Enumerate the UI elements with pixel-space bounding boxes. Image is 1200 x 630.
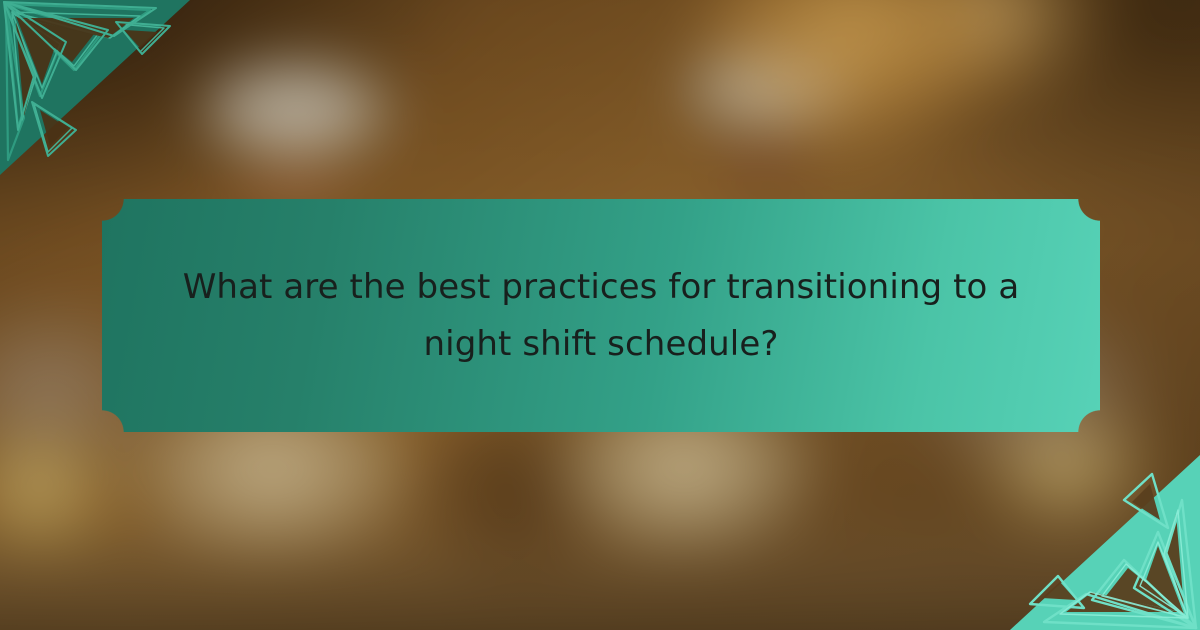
poster-canvas: What are the best practices for transiti…: [0, 0, 1200, 630]
question-card: What are the best practices for transiti…: [102, 199, 1100, 432]
question-text: What are the best practices for transiti…: [161, 259, 1041, 372]
